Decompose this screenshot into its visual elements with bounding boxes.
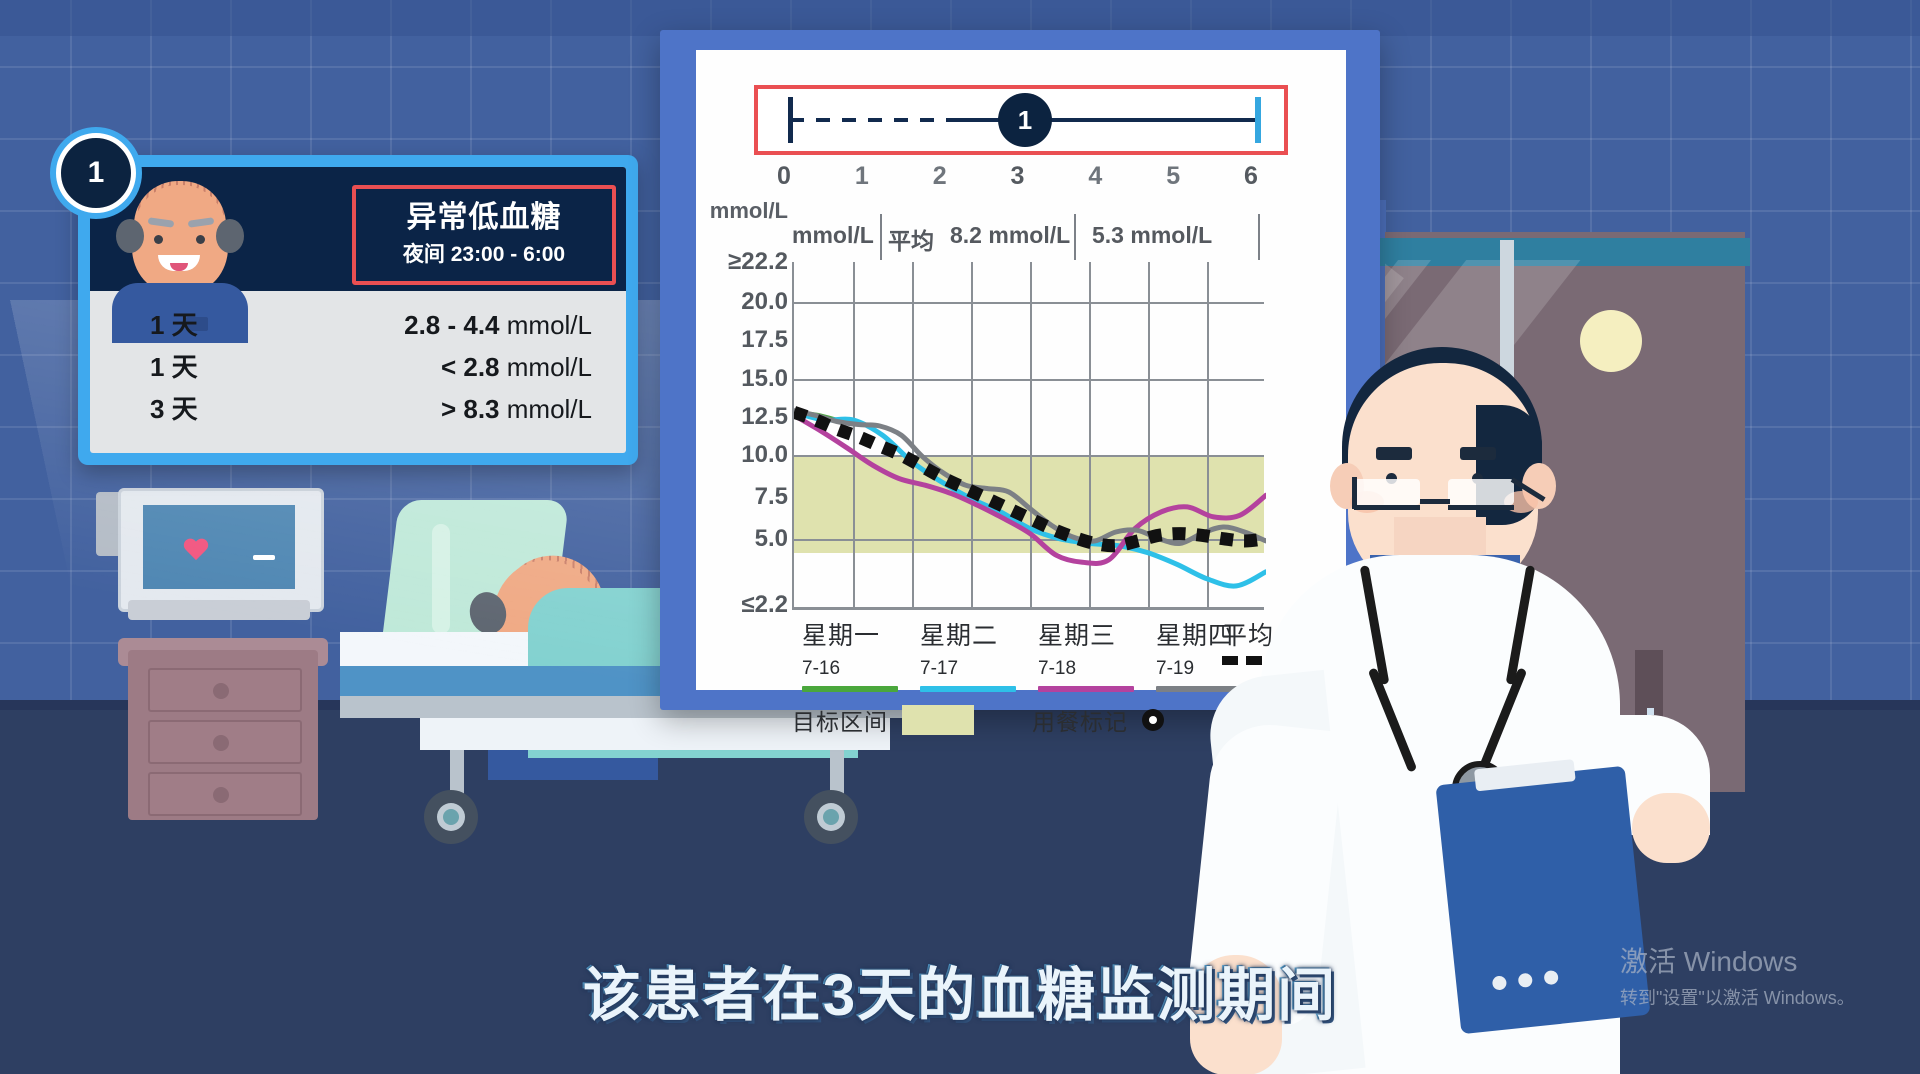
avatar-eye-right bbox=[196, 235, 205, 244]
y-tick-label: 17.5 bbox=[741, 326, 788, 354]
card-photo: 异常低血糖 夜间 23:00 - 6:00 bbox=[90, 167, 626, 291]
timeline-tick: 1 bbox=[855, 162, 869, 191]
timeline-tick: 4 bbox=[1088, 162, 1102, 191]
ecg-blip-icon bbox=[253, 555, 275, 560]
doctor-eyebrow-left bbox=[1376, 447, 1412, 460]
nightstand-drawer bbox=[148, 720, 302, 764]
doctor-hand-right bbox=[1632, 793, 1710, 863]
legend-target-range-label: 目标区间 bbox=[792, 703, 888, 737]
watermark-title: 激活 Windows bbox=[1620, 940, 1855, 980]
avatar-ear-right bbox=[216, 219, 244, 253]
day-timeline[interactable]: 1 bbox=[754, 85, 1288, 155]
meal-marker-icon bbox=[1142, 709, 1164, 731]
y-tick-label: 12.5 bbox=[741, 403, 788, 431]
glasses-icon bbox=[1330, 471, 1566, 517]
timeline-start-cap bbox=[788, 97, 793, 143]
avatar-ear-left bbox=[116, 219, 144, 253]
x-category-swatch bbox=[920, 686, 1016, 692]
y-tick-label: 7.5 bbox=[755, 483, 788, 511]
heart-icon bbox=[183, 539, 209, 563]
alert-title: 异常低血糖 bbox=[407, 202, 562, 234]
card-step-badge: 1 bbox=[56, 133, 136, 213]
y-tick-label: ≤2.2 bbox=[741, 591, 788, 619]
stat-row-label: 1 天 bbox=[150, 305, 198, 342]
bed-caster bbox=[804, 790, 858, 844]
nightstand-drawer bbox=[148, 772, 302, 816]
stat-row-list: 1 天 2.8 - 4.4 mmol/L 1 天 < 2.8 mmol/L 3 … bbox=[90, 291, 626, 453]
stethoscope-icon bbox=[1366, 565, 1536, 795]
x-category-date: 7-16 bbox=[802, 658, 920, 680]
timeline-end-cap[interactable] bbox=[1255, 97, 1261, 143]
legend-target-range-swatch bbox=[902, 705, 974, 735]
x-category-name: 星期三 bbox=[1038, 616, 1156, 652]
timeline-tick: 0 bbox=[777, 162, 791, 191]
header-unit-label: mmol/L bbox=[792, 222, 874, 249]
x-category: 星期一7-16 bbox=[802, 616, 920, 692]
y-tick-label: 15.0 bbox=[741, 365, 788, 393]
alert-subtitle: 夜间 23:00 - 6:00 bbox=[403, 238, 565, 268]
x-category-date: 7-17 bbox=[920, 658, 1038, 680]
y-tick-label: ≥22.2 bbox=[728, 248, 788, 276]
stat-row-label: 1 天 bbox=[150, 347, 198, 384]
bed-headrest-highlight bbox=[432, 524, 450, 634]
bed-caster bbox=[424, 790, 478, 844]
stat-row-value: 2.8 - 4.4 mmol/L bbox=[404, 310, 592, 341]
stat-row: 1 天 < 2.8 mmol/L bbox=[90, 347, 626, 389]
alert-box: 异常低血糖 夜间 23:00 - 6:00 bbox=[352, 185, 616, 285]
stat-row-value: < 2.8 mmol/L bbox=[441, 352, 592, 383]
stat-row: 3 天 > 8.3 mmol/L bbox=[90, 389, 626, 431]
doctor-eyebrow-right bbox=[1460, 447, 1496, 460]
x-category-name: 星期二 bbox=[920, 616, 1038, 652]
timeline-tick: 2 bbox=[933, 162, 947, 191]
monitor-base bbox=[128, 600, 310, 620]
scene-root: 1 异常低血糖 夜间 23:00 - 6:00 bbox=[0, 0, 1920, 1074]
card-inner: 异常低血糖 夜间 23:00 - 6:00 1 天 2.8 - 4.4 mmol… bbox=[90, 167, 626, 453]
y-tick-label: 10.0 bbox=[741, 441, 788, 469]
x-category: 星期二7-17 bbox=[920, 616, 1038, 692]
avatar-eye-left bbox=[154, 235, 163, 244]
timeline-tick: 5 bbox=[1166, 162, 1180, 191]
watermark-subtitle: 转到"设置"以激活 Windows。 bbox=[1620, 984, 1855, 1010]
stat-row: 1 天 2.8 - 4.4 mmol/L bbox=[90, 305, 626, 347]
y-tick-label: 5.0 bbox=[755, 525, 788, 553]
nightstand-drawer bbox=[148, 668, 302, 712]
timeline-tick: 3 bbox=[1011, 162, 1025, 191]
x-category: 星期三7-18 bbox=[1038, 616, 1156, 692]
vitals-monitor bbox=[118, 488, 324, 612]
x-category-swatch bbox=[1038, 686, 1134, 692]
nightstand bbox=[128, 650, 318, 820]
x-category-date: 7-18 bbox=[1038, 658, 1156, 680]
header-mean-value: 8.2 mmol/L bbox=[950, 222, 1070, 249]
stat-row-label: 3 天 bbox=[150, 389, 198, 426]
header-mean-label: 平均 bbox=[888, 222, 934, 256]
avatar-head bbox=[132, 185, 228, 293]
header-second-value: 5.3 mmol/L bbox=[1092, 222, 1212, 249]
hypoglycemia-info-card[interactable]: 1 异常低血糖 夜间 23:00 - 6:00 bbox=[78, 155, 638, 465]
timeline-scale: 0123456 bbox=[754, 162, 1288, 196]
x-category-swatch bbox=[802, 686, 898, 692]
x-category-name: 星期一 bbox=[802, 616, 920, 652]
legend-meal-marker-label: 用餐标记 bbox=[1032, 703, 1128, 737]
stat-row-value: > 8.3 mmol/L bbox=[441, 394, 592, 425]
windows-activation-watermark: 激活 Windows 转到"设置"以激活 Windows。 bbox=[1620, 940, 1855, 1010]
y-axis-unit-label: mmol/L bbox=[684, 198, 788, 224]
timeline-marker[interactable]: 1 bbox=[998, 93, 1052, 147]
y-tick-label: 20.0 bbox=[741, 288, 788, 316]
timeline-dashed-segment bbox=[790, 118, 950, 122]
timeline-tick: 6 bbox=[1244, 162, 1258, 191]
monitor-screen bbox=[143, 505, 295, 589]
